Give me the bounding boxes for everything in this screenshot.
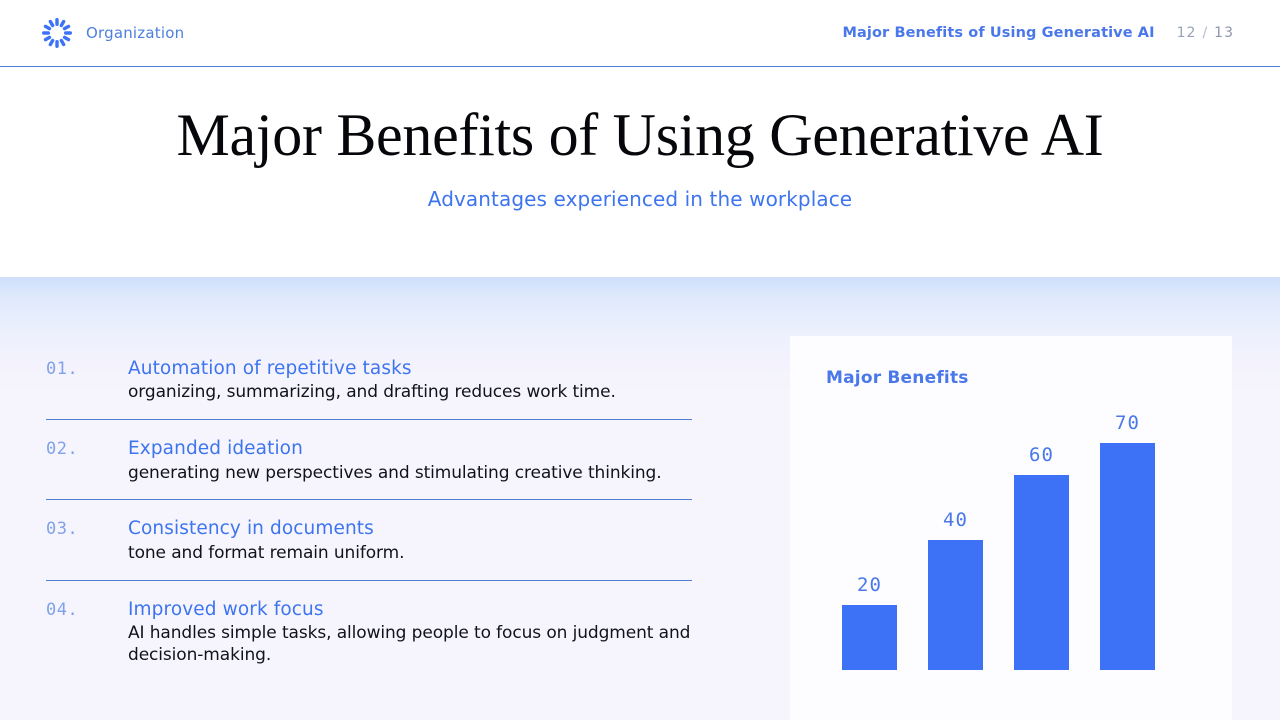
- chart-title: Major Benefits: [826, 368, 969, 388]
- list-item-description: organizing, summarizing, and drafting re…: [128, 382, 694, 404]
- bar-value-label: 40: [943, 509, 968, 531]
- page-title: Major Benefits of Using Generative AI: [177, 102, 1104, 168]
- hero-section: Major Benefits of Using Generative AI Ad…: [0, 67, 1280, 277]
- benefits-list: 01. Automation of repetitive tasks organ…: [46, 357, 694, 667]
- list-item-title: Expanded ideation: [128, 437, 694, 460]
- chart-bar[interactable]: [1014, 475, 1069, 670]
- list-item-title: Improved work focus: [128, 598, 694, 621]
- list-item-number: 02.: [46, 437, 128, 460]
- list-item-description: AI handles simple tasks, allowing people…: [128, 623, 694, 667]
- list-item-body: Improved work focus AI handles simple ta…: [128, 598, 694, 667]
- list-item-body: Automation of repetitive tasks organizin…: [128, 357, 694, 404]
- page-current: 12: [1177, 25, 1197, 41]
- brand-block: Organization: [40, 16, 184, 50]
- bar-column: 60: [1014, 410, 1069, 670]
- list-item: 01. Automation of repetitive tasks organ…: [46, 357, 694, 404]
- list-item-description: generating new perspectives and stimulat…: [128, 463, 694, 485]
- list-item-number: 01.: [46, 357, 128, 380]
- slide-header: Organization Major Benefits of Using Gen…: [0, 0, 1280, 67]
- deck-title: Major Benefits of Using Generative AI: [843, 25, 1155, 41]
- list-item: 02. Expanded ideation generating new per…: [46, 437, 694, 484]
- list-item-title: Consistency in documents: [128, 517, 694, 540]
- page-separator: /: [1202, 25, 1208, 41]
- list-item-title: Automation of repetitive tasks: [128, 357, 694, 380]
- page-total: 13: [1214, 25, 1234, 41]
- page-indicator: 12 / 13: [1177, 25, 1234, 41]
- list-item-description: tone and format remain uniform.: [128, 543, 694, 565]
- bar-column: 20: [842, 410, 897, 670]
- bar-column: 70: [1100, 410, 1155, 670]
- bar-value-label: 60: [1029, 444, 1054, 466]
- chart-bar[interactable]: [842, 605, 897, 670]
- sunburst-logo-icon: [40, 16, 74, 50]
- bar-column: 40: [928, 410, 983, 670]
- bar-chart-plot: 20 40 60 70: [842, 410, 1232, 670]
- list-divider: [46, 499, 692, 500]
- slide-root: Organization Major Benefits of Using Gen…: [0, 0, 1280, 720]
- list-item-body: Expanded ideation generating new perspec…: [128, 437, 694, 484]
- list-item-body: Consistency in documents tone and format…: [128, 517, 694, 564]
- list-item: 04. Improved work focus AI handles simpl…: [46, 598, 694, 667]
- chart-bar[interactable]: [928, 540, 983, 670]
- list-divider: [46, 580, 692, 581]
- brand-name: Organization: [86, 24, 184, 42]
- header-right-group: Major Benefits of Using Generative AI 12…: [843, 25, 1234, 41]
- list-item: 03. Consistency in documents tone and fo…: [46, 517, 694, 564]
- content-area: 01. Automation of repetitive tasks organ…: [0, 277, 1280, 720]
- list-divider: [46, 419, 692, 420]
- chart-bar[interactable]: [1100, 443, 1155, 671]
- bar-value-label: 70: [1115, 412, 1140, 434]
- page-subtitle: Advantages experienced in the workplace: [428, 187, 852, 211]
- bar-value-label: 20: [857, 574, 882, 596]
- list-item-number: 03.: [46, 517, 128, 540]
- chart-panel: Major Benefits 20 40 60 70: [790, 336, 1232, 720]
- list-item-number: 04.: [46, 598, 128, 621]
